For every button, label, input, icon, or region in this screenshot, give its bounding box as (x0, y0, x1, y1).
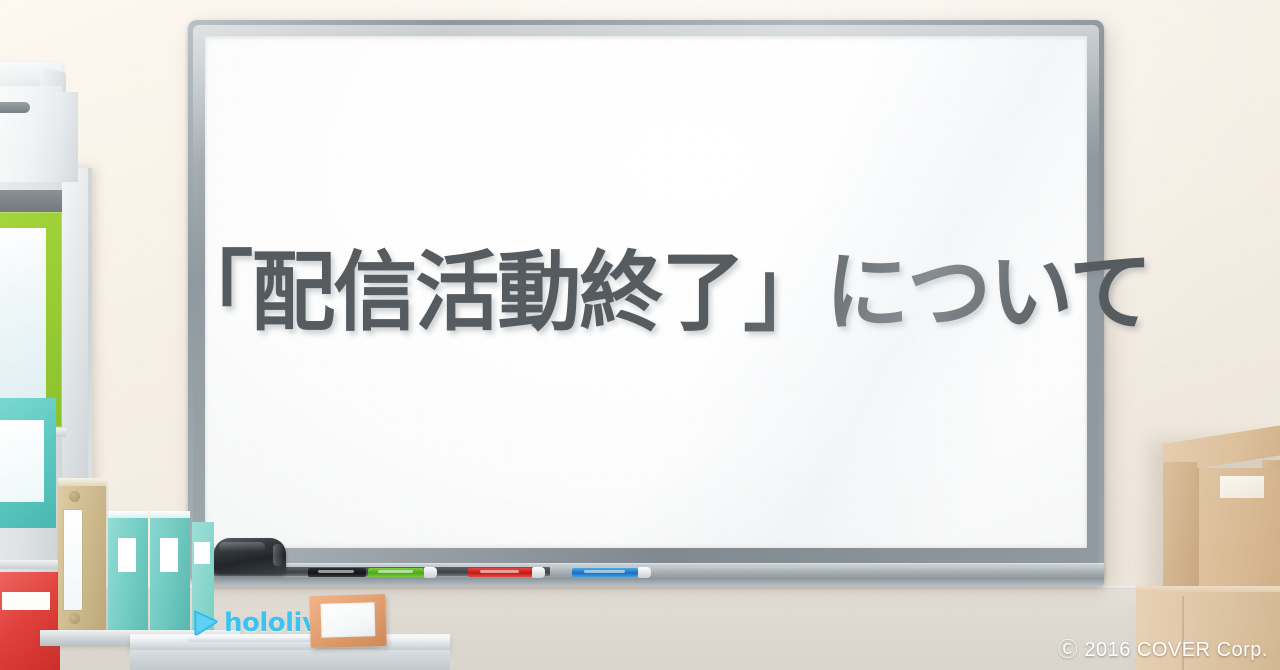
picture-frame-photo (321, 602, 376, 637)
marker-cap (638, 567, 651, 578)
marker-band (584, 570, 625, 573)
marker-cap (532, 567, 545, 578)
eraser-highlight (219, 542, 265, 552)
red-marker[interactable] (468, 568, 532, 577)
tan-binder-label (64, 510, 82, 610)
teal-binder-a-top (108, 511, 148, 518)
tan-binder-ring-top (69, 491, 80, 502)
teal-binder-b (150, 514, 190, 632)
hololive-logo[interactable]: hololive (190, 606, 316, 640)
scene-root: 「配信活動終了」について (0, 0, 1280, 670)
page-title: 「配信活動終了」について (169, 249, 1150, 336)
marker-cap (424, 567, 437, 578)
teal-binder-b-top (150, 511, 190, 518)
play-triangle-icon (190, 609, 220, 637)
copyright-notice: Ⓒ 2016 COVER Corp. (1058, 633, 1268, 662)
green-marker[interactable] (368, 568, 424, 577)
teal-binder-b-label (160, 538, 178, 572)
cardboard-box-upper-left-face (1163, 462, 1197, 596)
tan-binder-ring-bottom (69, 613, 80, 624)
whiteboard-eraser[interactable] (214, 538, 286, 574)
tan-binder-top (58, 478, 106, 486)
picture-frame[interactable] (309, 594, 386, 648)
teal-box-label (0, 420, 44, 502)
shelf-poster-surface (0, 228, 46, 410)
blue-marker[interactable] (572, 568, 638, 577)
shelf-divider-lower (0, 560, 66, 569)
marker-band (318, 570, 354, 573)
white-storage-box-side (56, 92, 78, 182)
desk-front-panel (130, 650, 450, 670)
teal-binder-a-label (118, 538, 136, 572)
black-marker[interactable] (308, 568, 366, 577)
whiteboard-title-area: 「配信活動終了」について (205, 36, 1087, 548)
cardboard-box-upper-seam (1197, 468, 1199, 596)
white-storage-box (0, 86, 62, 182)
red-box-label (2, 592, 50, 610)
shipping-label (1220, 476, 1264, 498)
marker-band (480, 570, 520, 573)
white-storage-box-handle (0, 102, 30, 113)
whiteboard: 「配信活動終了」について (188, 20, 1104, 582)
eraser-side-face (273, 544, 283, 566)
red-storage-box (0, 572, 60, 670)
teal-binder-c-label (194, 542, 210, 564)
teal-binder-a (108, 514, 148, 632)
marker-band (378, 570, 413, 573)
